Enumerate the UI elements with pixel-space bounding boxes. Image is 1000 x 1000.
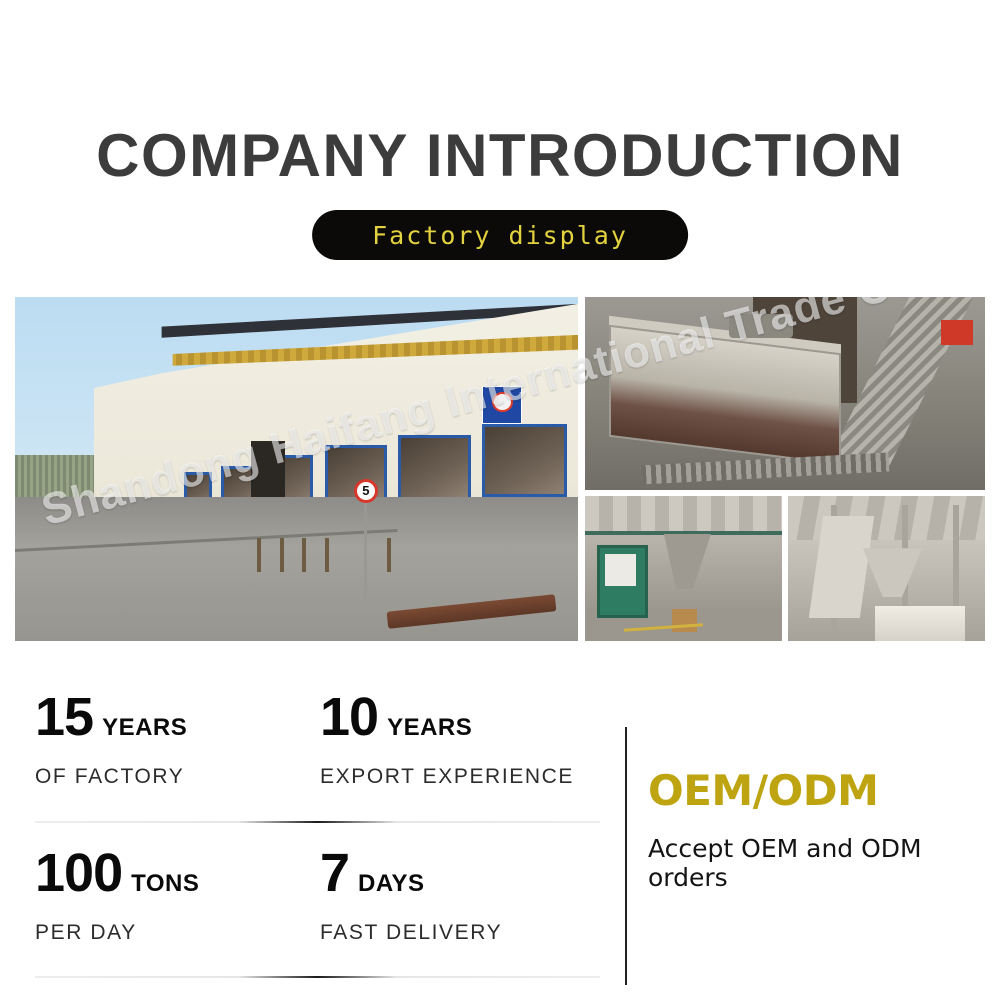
window <box>398 435 471 500</box>
factory-display-badge: Factory display <box>312 210 688 260</box>
stat-number: 10 <box>320 690 378 744</box>
stat-fast-delivery: 7 DAYS FAST DELIVERY <box>320 846 600 978</box>
oem-odm-section: OEM/ODM Accept OEM and ODM orders <box>648 770 988 892</box>
shrub <box>257 538 261 572</box>
page-title: COMPANY INTRODUCTION <box>0 126 1000 186</box>
window <box>482 424 566 496</box>
header-section: COMPANY INTRODUCTION Factory display <box>0 0 1000 285</box>
stat-label: OF FACTORY <box>35 765 315 789</box>
photo-workshop-a <box>585 496 782 641</box>
factory-exterior-image: 5 <box>15 297 578 641</box>
stat-unit: DAYS <box>358 870 424 898</box>
section-vertical-divider <box>625 727 627 985</box>
photo-production-machine <box>585 297 985 490</box>
stats-divider-bottom <box>35 976 600 978</box>
machine-motor <box>729 314 793 337</box>
stat-headline: 10 YEARS <box>320 690 600 744</box>
stat-export-experience: 10 YEARS EXPORT EXPERIENCE <box>320 690 600 822</box>
stat-headline: 7 DAYS <box>320 846 600 900</box>
shrub <box>387 538 391 572</box>
stat-years-of-factory: 15 YEARS OF FACTORY <box>35 690 315 822</box>
stat-unit: YEARS <box>102 714 187 742</box>
no-fire-sign-icon <box>482 386 521 424</box>
shrub <box>325 538 329 572</box>
cardboard-box <box>672 609 698 632</box>
bulk-bags <box>875 606 966 641</box>
stat-unit: YEARS <box>387 714 472 742</box>
oem-odm-title: OEM/ODM <box>648 770 988 812</box>
workshop-a-roof <box>585 496 782 534</box>
workshop-b-image <box>788 496 985 641</box>
machine-control-panel <box>605 554 637 586</box>
red-equipment-box <box>941 320 973 345</box>
stats-section: 15 YEARS OF FACTORY 10 YEARS EXPORT EXPE… <box>35 690 600 980</box>
photo-factory-exterior: 5 <box>15 297 578 641</box>
factory-display-badge-label: Factory display <box>372 221 628 250</box>
stat-number: 100 <box>35 846 122 900</box>
stat-tons-per-day: 100 TONS PER DAY <box>35 846 315 978</box>
stat-label: EXPORT EXPERIENCE <box>320 765 600 789</box>
stats-row-bottom: 100 TONS PER DAY 7 DAYS FAST DELIVERY <box>35 846 600 978</box>
photo-gallery: 5 <box>15 297 985 641</box>
stats-row-top: 15 YEARS OF FACTORY 10 YEARS EXPORT EXPE… <box>35 690 600 822</box>
photo-column-right <box>585 297 985 641</box>
stat-label: PER DAY <box>35 921 315 945</box>
stat-headline: 100 TONS <box>35 846 315 900</box>
photo-row-bottom <box>585 496 985 641</box>
stat-number: 15 <box>35 690 93 744</box>
stats-divider-middle <box>35 821 600 823</box>
workshop-a-image <box>585 496 782 641</box>
shrub <box>280 538 284 572</box>
oem-odm-subtitle: Accept OEM and ODM orders <box>648 834 988 892</box>
ground-pavement <box>15 497 578 641</box>
shrub <box>302 538 306 572</box>
production-machine-image <box>585 297 985 490</box>
sign-pole <box>364 497 367 600</box>
stat-label: FAST DELIVERY <box>320 921 600 945</box>
stat-number: 7 <box>320 846 349 900</box>
photo-workshop-b <box>788 496 985 641</box>
company-introduction-page: COMPANY INTRODUCTION Factory display <box>0 0 1000 1000</box>
stat-unit: TONS <box>131 870 199 898</box>
stat-headline: 15 YEARS <box>35 690 315 744</box>
